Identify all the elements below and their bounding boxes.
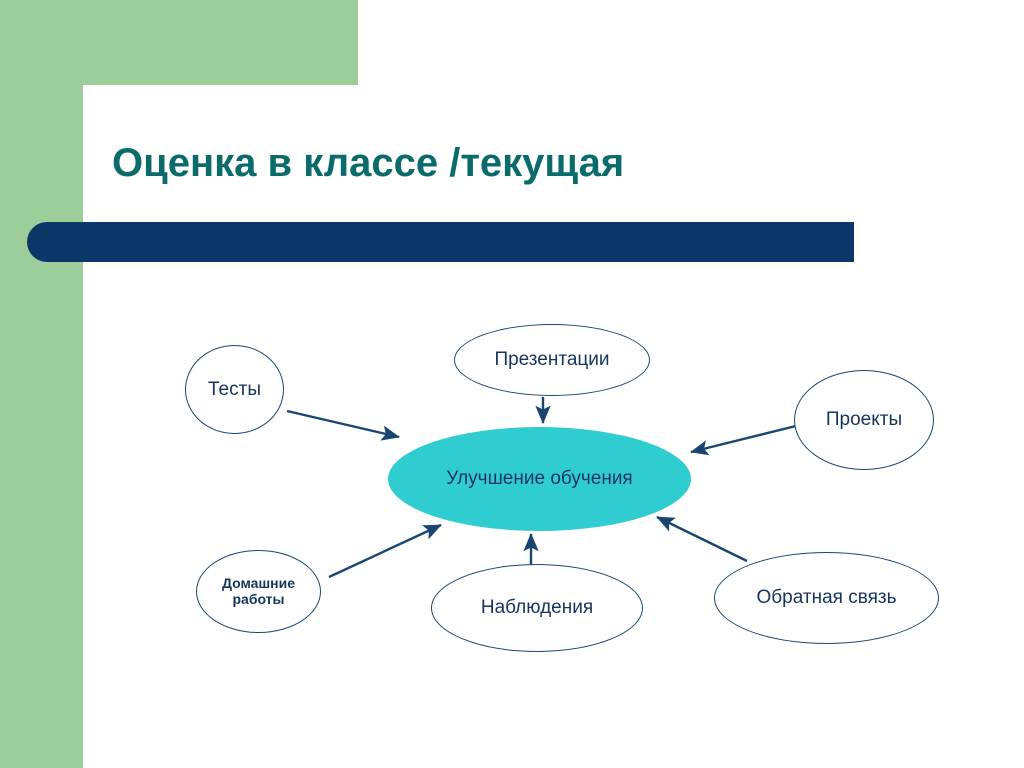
node-presentations[interactable]: Презентации: [454, 324, 650, 396]
edge-projects-to-center: [691, 425, 800, 452]
node-feedback-label: Обратная связь: [751, 587, 903, 608]
node-tests-label: Тесты: [202, 379, 267, 400]
edge-homework-to-center: [329, 525, 441, 577]
node-presentations-label: Презентации: [488, 349, 615, 370]
node-projects[interactable]: Проекты: [794, 370, 934, 470]
node-feedback[interactable]: Обратная связь: [714, 552, 939, 644]
node-homework-label: Домашниеработы: [216, 576, 301, 607]
edge-tests-to-center: [287, 411, 399, 437]
node-center-label: Улучшение обучения: [440, 468, 638, 489]
concept-map: Улучшение обучения Тесты Презентации Про…: [0, 0, 1024, 768]
node-projects-label: Проекты: [820, 409, 908, 430]
edge-feedback-to-center: [657, 517, 747, 561]
node-center[interactable]: Улучшение обучения: [388, 427, 691, 531]
node-homework-label-line2: работы: [232, 591, 284, 607]
node-tests[interactable]: Тесты: [185, 345, 284, 434]
slide-canvas: Оценка в классе /текущая Улучшение обуче: [0, 0, 1024, 768]
node-observations-label: Наблюдения: [475, 597, 599, 618]
node-homework-label-line1: Домашние: [222, 575, 295, 591]
node-observations[interactable]: Наблюдения: [431, 564, 643, 652]
node-homework[interactable]: Домашниеработы: [196, 550, 321, 633]
